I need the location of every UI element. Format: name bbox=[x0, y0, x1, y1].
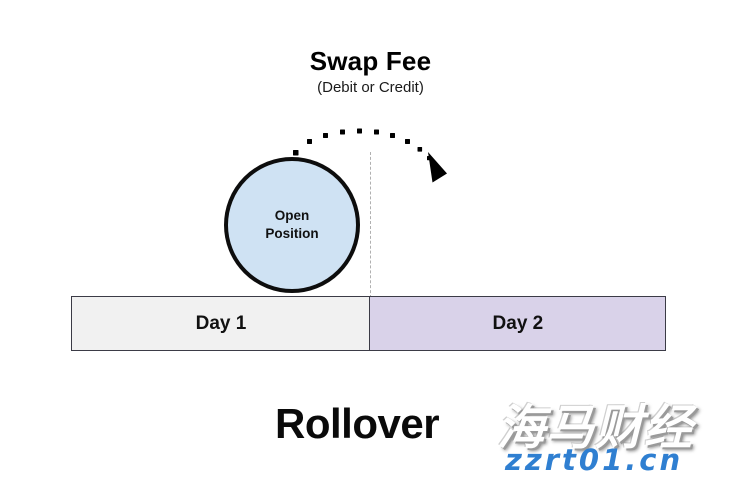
timeline-bar: Day 1 Day 2 bbox=[71, 296, 668, 351]
rollover-caption: Rollover bbox=[275, 400, 439, 448]
timeline-cell-day-1: Day 1 bbox=[71, 296, 371, 351]
timeline-cell-day-2: Day 2 bbox=[369, 296, 666, 351]
day-boundary-dashed-line bbox=[370, 152, 371, 298]
diagram-canvas: Swap Fee (Debit or Credit) Open Position… bbox=[0, 0, 741, 486]
open-position-label-line2: Position bbox=[265, 225, 318, 243]
open-position-node: Open Position bbox=[224, 157, 360, 293]
watermark-url-text: zzrt01.cn bbox=[505, 443, 683, 477]
watermark: 海马财经 zzrt01.cn bbox=[497, 388, 737, 484]
open-position-label-line1: Open bbox=[275, 207, 310, 225]
page-subtitle: (Debit or Credit) bbox=[0, 79, 741, 96]
page-title: Swap Fee bbox=[0, 46, 741, 77]
